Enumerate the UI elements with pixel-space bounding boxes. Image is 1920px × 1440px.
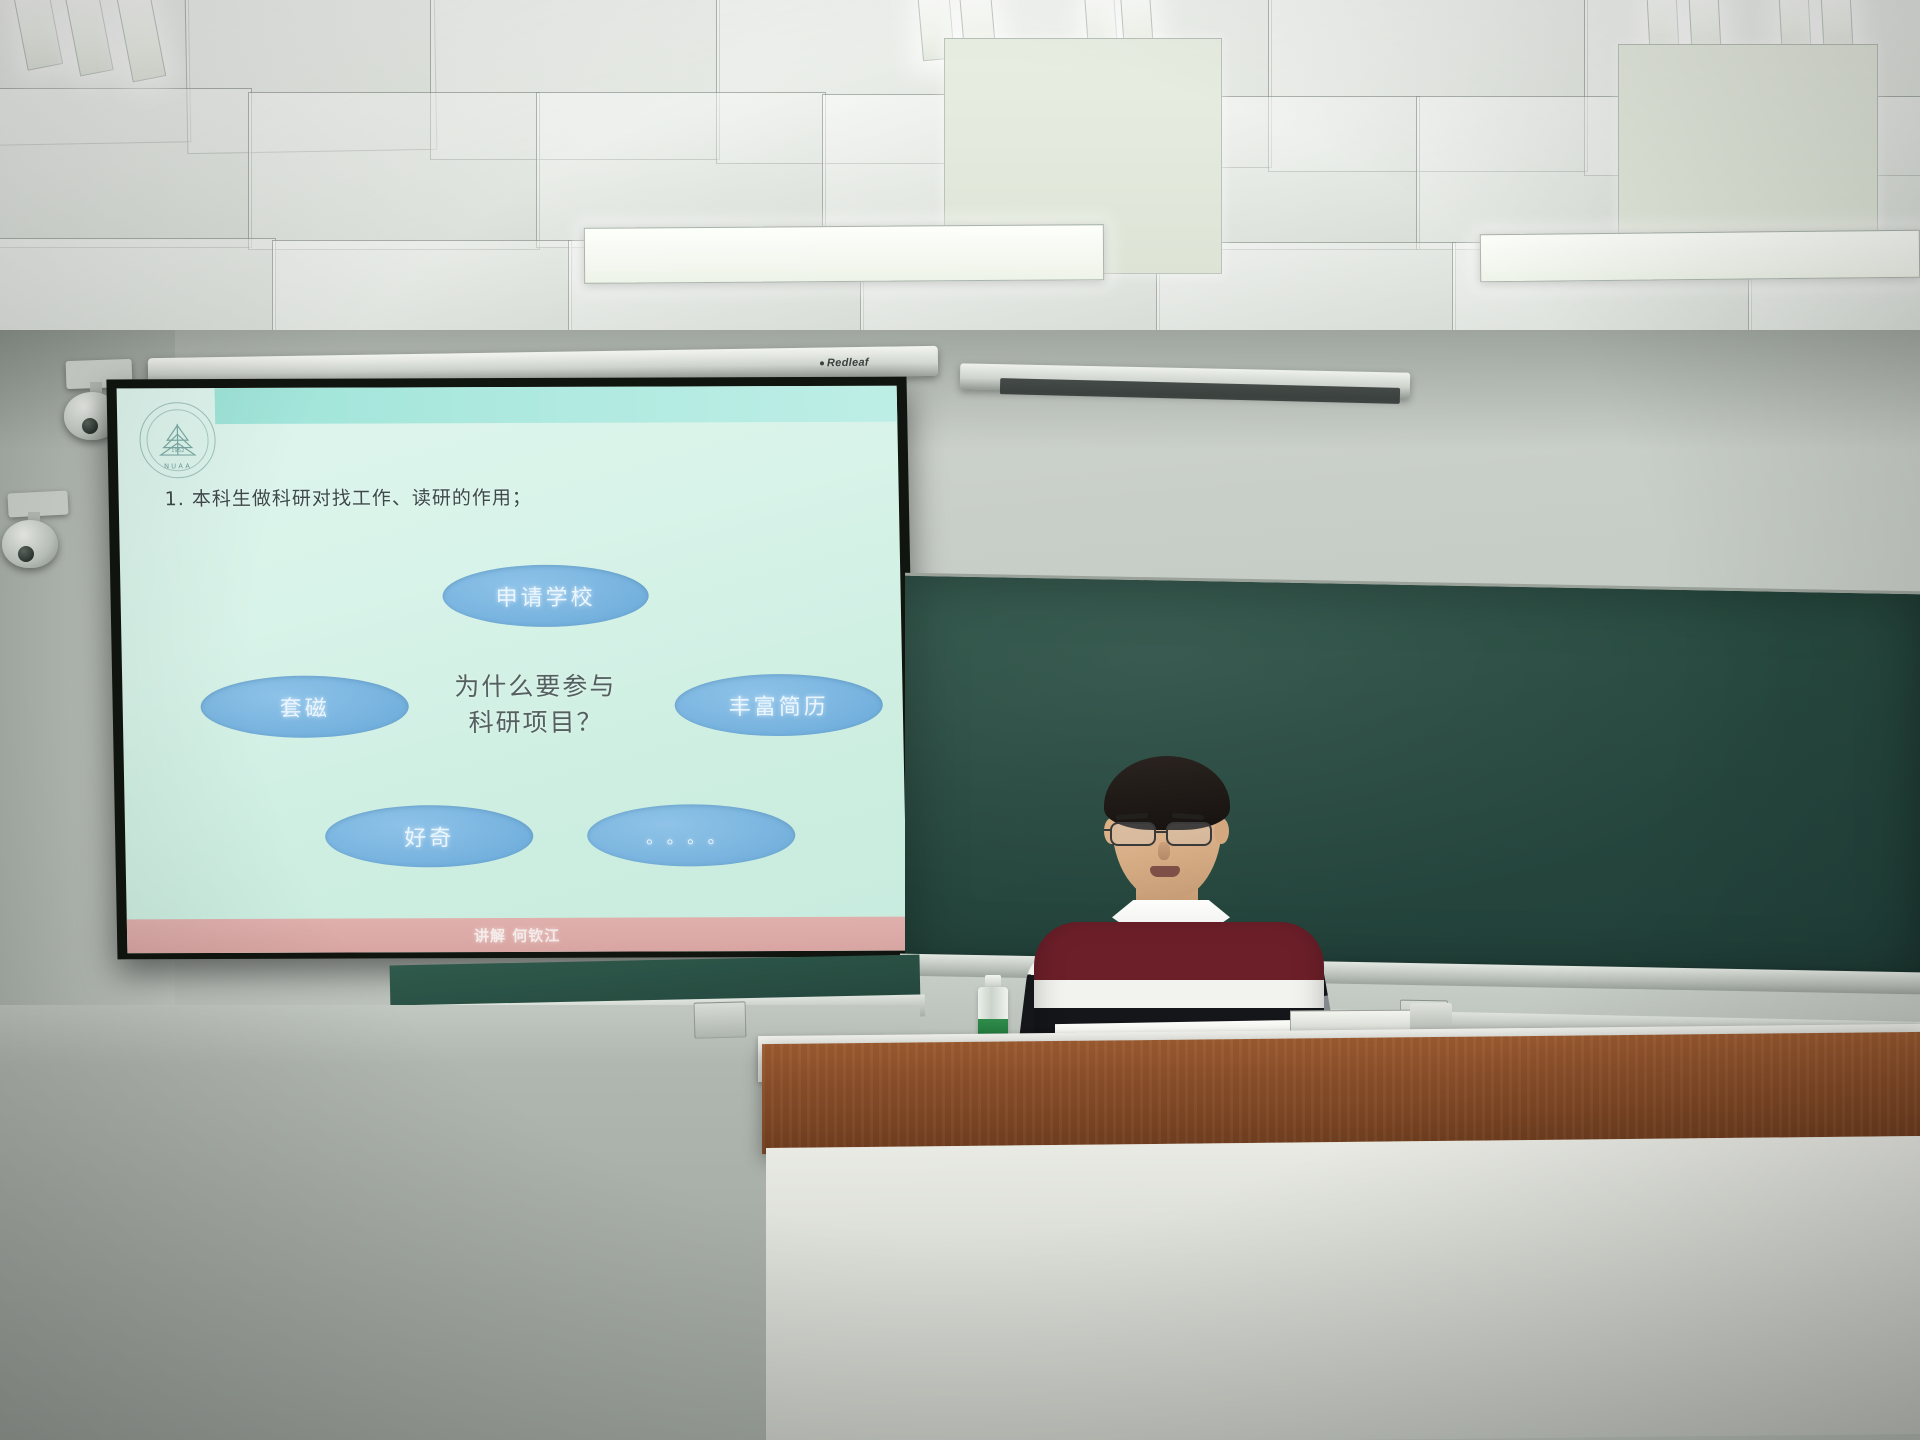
presentation-slide: 1952 NUAA 1. 本科生做科研对找工作、读研的作用； 申请学校 套磁 丰… <box>117 386 908 954</box>
bullet-dot-icon <box>820 361 824 365</box>
slide-top-banner <box>215 386 898 424</box>
ceiling-strip-light <box>1480 230 1920 283</box>
podium-wood-panel <box>762 1032 1920 1154</box>
slide-footer-bar: 讲解 何钦江 <box>127 917 908 954</box>
slide-bubble-apply-school: 申请学校 <box>442 565 649 628</box>
svg-text:1952: 1952 <box>171 448 184 454</box>
screen-brand-label: Redleaf <box>820 357 869 370</box>
podium-front-panel <box>766 1136 1920 1440</box>
slide-bubble-enrich-resume: 丰富简历 <box>674 674 883 737</box>
ceiling-strip-light <box>584 224 1104 284</box>
lecture-hall-photo: Redleaf 1952 NUAA 1. 本科生做科研对 <box>0 0 1920 1440</box>
slide-bubble-contact-professor: 套磁 <box>200 675 409 738</box>
nuaa-pagoda-emblem-icon: 1952 NUAA <box>139 402 216 478</box>
slide-bubble-more: 。。。。 <box>587 804 796 867</box>
wall-outlet-box <box>694 1001 747 1038</box>
svg-text:NUAA: NUAA <box>164 462 192 470</box>
slide-presenter-credit: 讲解 何钦江 <box>474 924 561 945</box>
slide-center-question-line1: 为什么要参与 <box>410 668 661 705</box>
slide-center-question: 为什么要参与 科研项目？ <box>410 668 661 741</box>
projection-screen: 1952 NUAA 1. 本科生做科研对找工作、读研的作用； 申请学校 套磁 丰… <box>106 377 917 960</box>
slide-bubble-curiosity: 好奇 <box>325 805 534 868</box>
slide-heading: 1. 本科生做科研对找工作、读研的作用； <box>164 483 532 511</box>
slide-center-question-line2: 科研项目？ <box>411 705 662 742</box>
floor-area <box>0 1065 770 1440</box>
ceiling <box>0 0 1920 372</box>
